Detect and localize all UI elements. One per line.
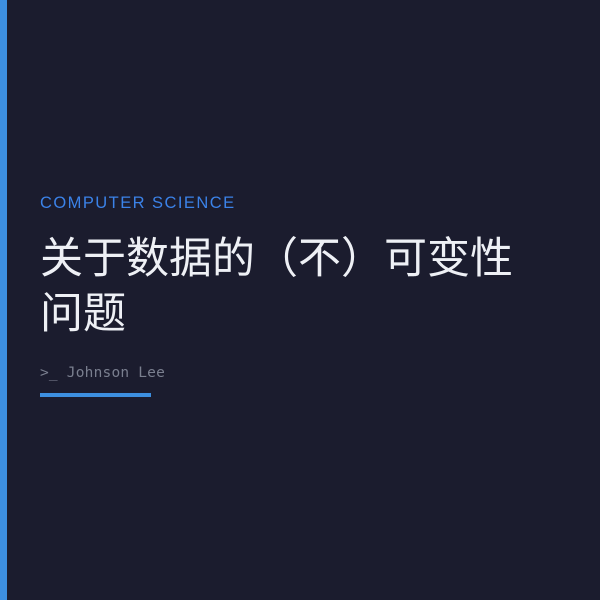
article-cover-card: COMPUTER SCIENCE 关于数据的（不）可变性问题 >_ Johnso…	[0, 0, 600, 600]
cover-content: COMPUTER SCIENCE 关于数据的（不）可变性问题 >_ Johnso…	[40, 192, 560, 397]
author-block: >_ Johnson Lee	[40, 364, 560, 397]
page-title: 关于数据的（不）可变性问题	[40, 232, 552, 342]
category-label: COMPUTER SCIENCE	[40, 192, 560, 214]
author-byline: >_ Johnson Lee	[40, 364, 560, 383]
author-underline-bar	[40, 393, 151, 397]
left-accent-bar	[0, 0, 7, 600]
